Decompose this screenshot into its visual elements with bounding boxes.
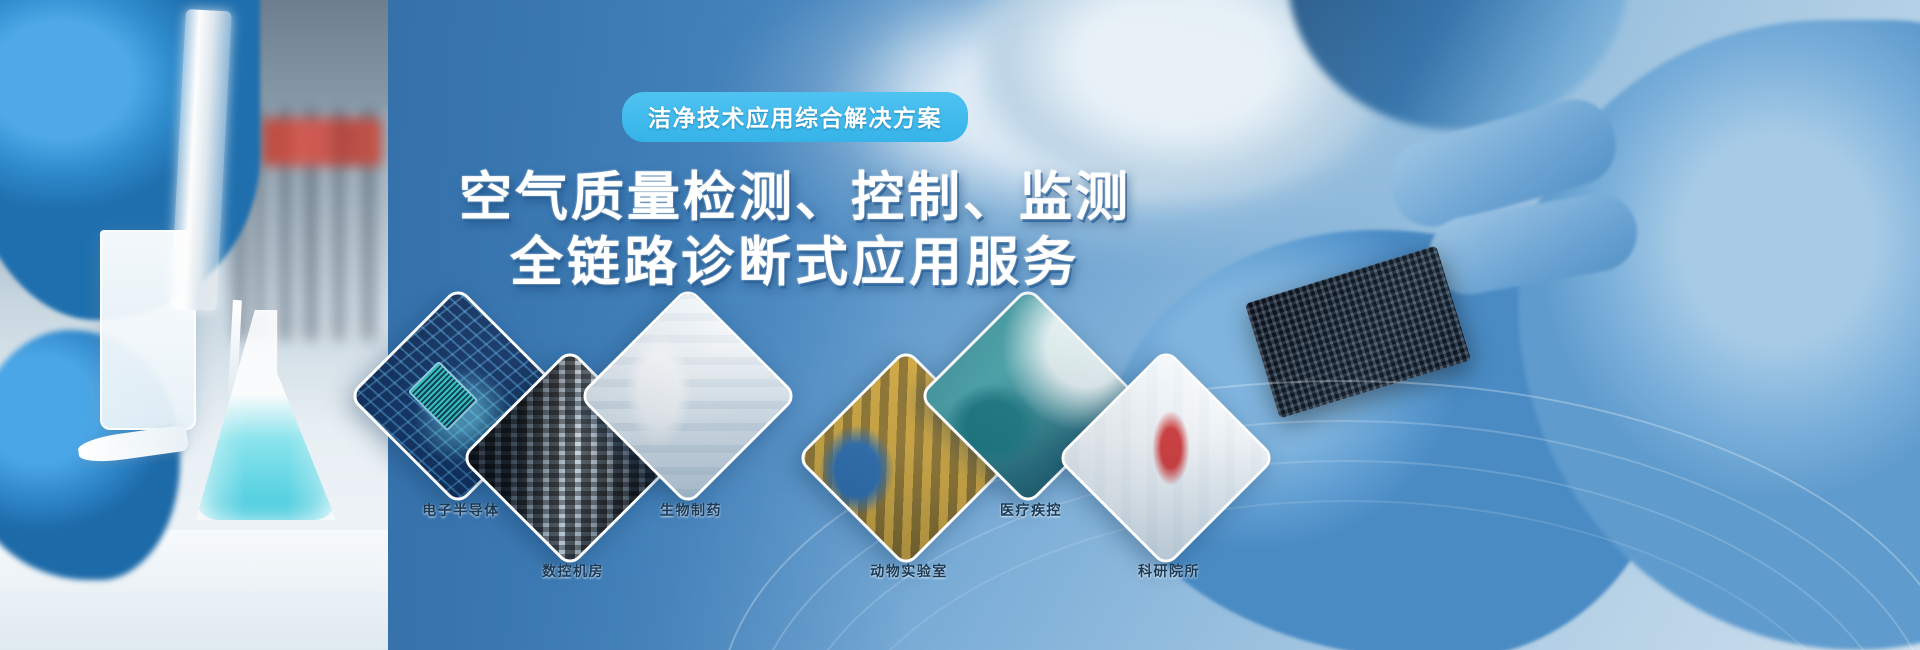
- solution-badge: 洁净技术应用综合解决方案: [622, 92, 968, 142]
- red-cap-tubes: [262, 118, 382, 166]
- left-lab-photo: [0, 0, 388, 650]
- industry-card-label-research: 科研院所: [1064, 561, 1274, 581]
- industry-card-label-animal-lab: 动物实验室: [804, 561, 1014, 581]
- page-title: 空气质量检测、控制、监测 全链路诊断式应用服务: [455, 166, 1135, 295]
- hero-banner: 洁净技术应用综合解决方案 空气质量检测、控制、监测 全链路诊断式应用服务 电子半…: [0, 0, 1920, 650]
- hero-copy: 洁净技术应用综合解决方案 空气质量检测、控制、监测 全链路诊断式应用服务: [455, 92, 1135, 295]
- industry-card-label-datacenter: 数控机房: [468, 561, 678, 581]
- industry-card-label-biopharma: 生物制药: [586, 500, 796, 520]
- headline-line-1: 空气质量检测、控制、监测: [455, 166, 1135, 231]
- headline-line-2: 全链路诊断式应用服务: [455, 231, 1135, 296]
